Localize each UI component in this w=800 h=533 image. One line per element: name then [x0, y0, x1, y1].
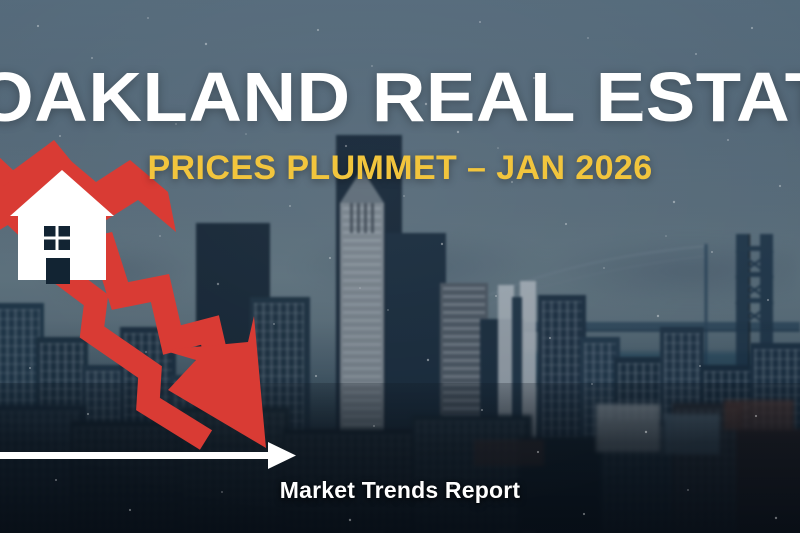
poster-canvas: OAKLAND REAL ESTATE PRICES PLUMMET – JAN… [0, 0, 800, 533]
foreground-shadow [0, 383, 800, 533]
page-title: OAKLAND REAL ESTATE [0, 62, 800, 132]
subtitle: PRICES PLUMMET – JAN 2026 [0, 151, 800, 185]
report-label: Market Trends Report [0, 479, 800, 502]
